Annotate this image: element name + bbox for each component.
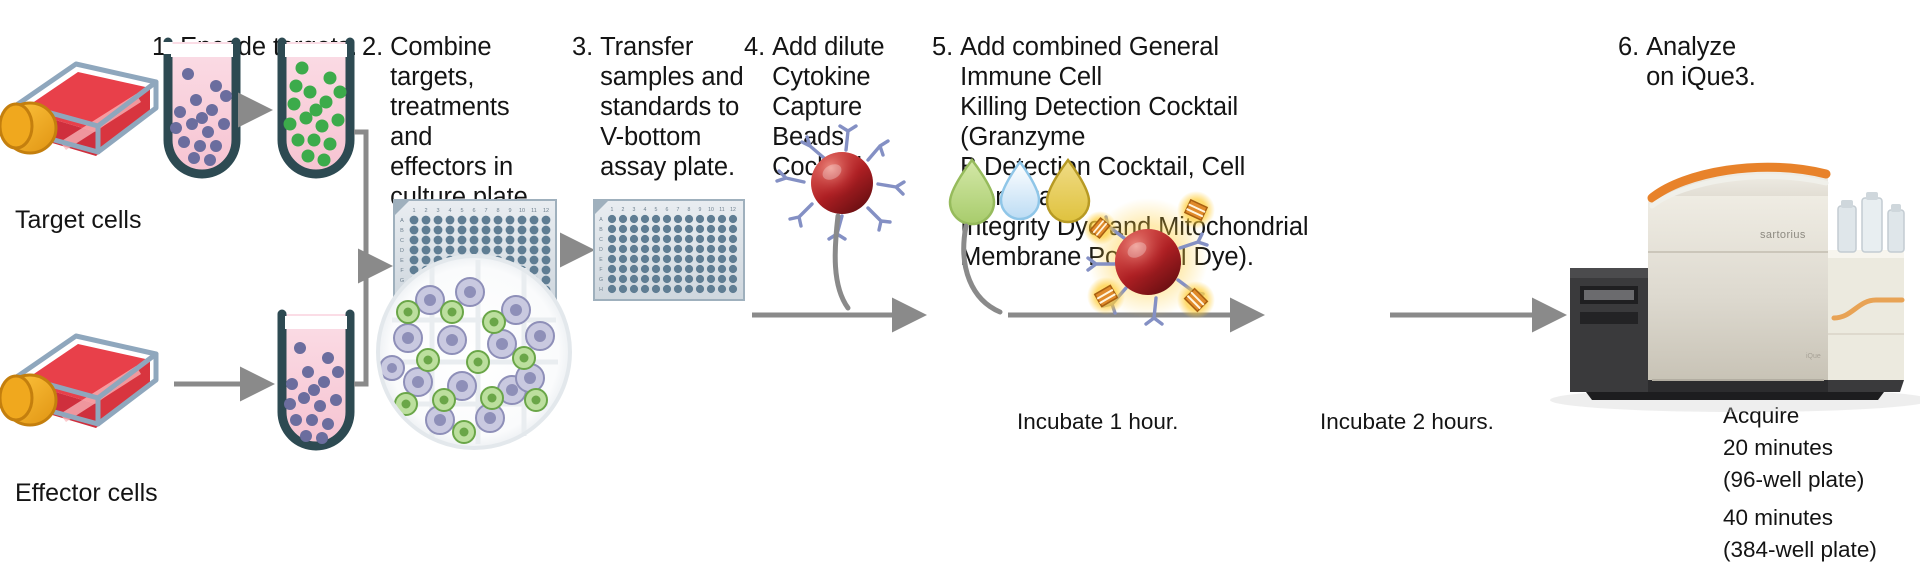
svg-text:E: E — [400, 258, 404, 264]
svg-text:3: 3 — [633, 207, 636, 213]
culture-tube-icon-targets-encoded — [282, 40, 350, 174]
svg-text:6: 6 — [472, 208, 475, 214]
svg-text:5: 5 — [655, 207, 658, 213]
svg-text:G: G — [400, 278, 404, 284]
svg-text:3: 3 — [436, 208, 439, 214]
svg-text:6: 6 — [666, 207, 669, 213]
reagent-droplet-icon-blue — [1001, 162, 1039, 219]
svg-text:9: 9 — [699, 207, 702, 213]
svg-text:H: H — [599, 287, 603, 293]
workflow-graphics: 123 456 789 101112 ABC DEF GH — [0, 0, 1920, 588]
svg-text:11: 11 — [719, 207, 724, 213]
svg-text:D: D — [599, 247, 603, 253]
svg-text:1: 1 — [412, 208, 415, 214]
svg-text:A: A — [400, 218, 404, 224]
svg-text:B: B — [400, 228, 404, 234]
svg-text:7: 7 — [677, 207, 680, 213]
svg-text:8: 8 — [496, 208, 499, 214]
reagent-droplet-icon-green — [950, 160, 994, 224]
v-bottom-plate-icon: 123 456 789 101112 ABC DEF GH — [594, 200, 744, 300]
svg-text:10: 10 — [708, 207, 714, 213]
svg-text:4: 4 — [644, 207, 647, 213]
svg-text:11: 11 — [531, 208, 537, 214]
workflow-diagram: 1. Encode targets. 2. Combine targets, t… — [0, 0, 1920, 588]
svg-text:9: 9 — [508, 208, 511, 214]
svg-text:7: 7 — [484, 208, 487, 214]
svg-text:12: 12 — [543, 208, 549, 214]
ique3-instrument-icon: sartorius iQue — [1550, 162, 1920, 412]
svg-text:iQue: iQue — [1806, 353, 1821, 360]
svg-text:G: G — [599, 277, 603, 283]
svg-text:1: 1 — [611, 207, 614, 213]
svg-text:4: 4 — [448, 208, 451, 214]
svg-text:2: 2 — [424, 208, 427, 214]
svg-text:F: F — [599, 267, 602, 273]
svg-text:C: C — [599, 237, 603, 243]
labeled-bead-icon — [1083, 191, 1215, 324]
svg-text:2: 2 — [622, 207, 625, 213]
cell-culture-flask-icon-target — [0, 64, 156, 156]
instrument-brand-label: sartorius — [1760, 229, 1806, 241]
culture-tube-icon-targets-unlabeled — [168, 40, 236, 174]
culture-tube-icon-effectors — [282, 312, 350, 446]
svg-text:8: 8 — [688, 207, 691, 213]
cell-culture-flask-icon-effector — [0, 336, 156, 428]
svg-text:E: E — [599, 257, 603, 263]
svg-text:10: 10 — [519, 208, 525, 214]
capture-bead-icon — [777, 126, 904, 239]
reagent-droplet-icon-yellow — [1047, 160, 1089, 222]
svg-text:C: C — [400, 238, 404, 244]
svg-text:D: D — [400, 248, 404, 254]
svg-text:12: 12 — [730, 207, 736, 213]
cell-magnification-icon — [378, 256, 570, 448]
svg-text:A: A — [599, 217, 603, 223]
svg-text:5: 5 — [460, 208, 463, 214]
svg-text:B: B — [599, 227, 603, 233]
